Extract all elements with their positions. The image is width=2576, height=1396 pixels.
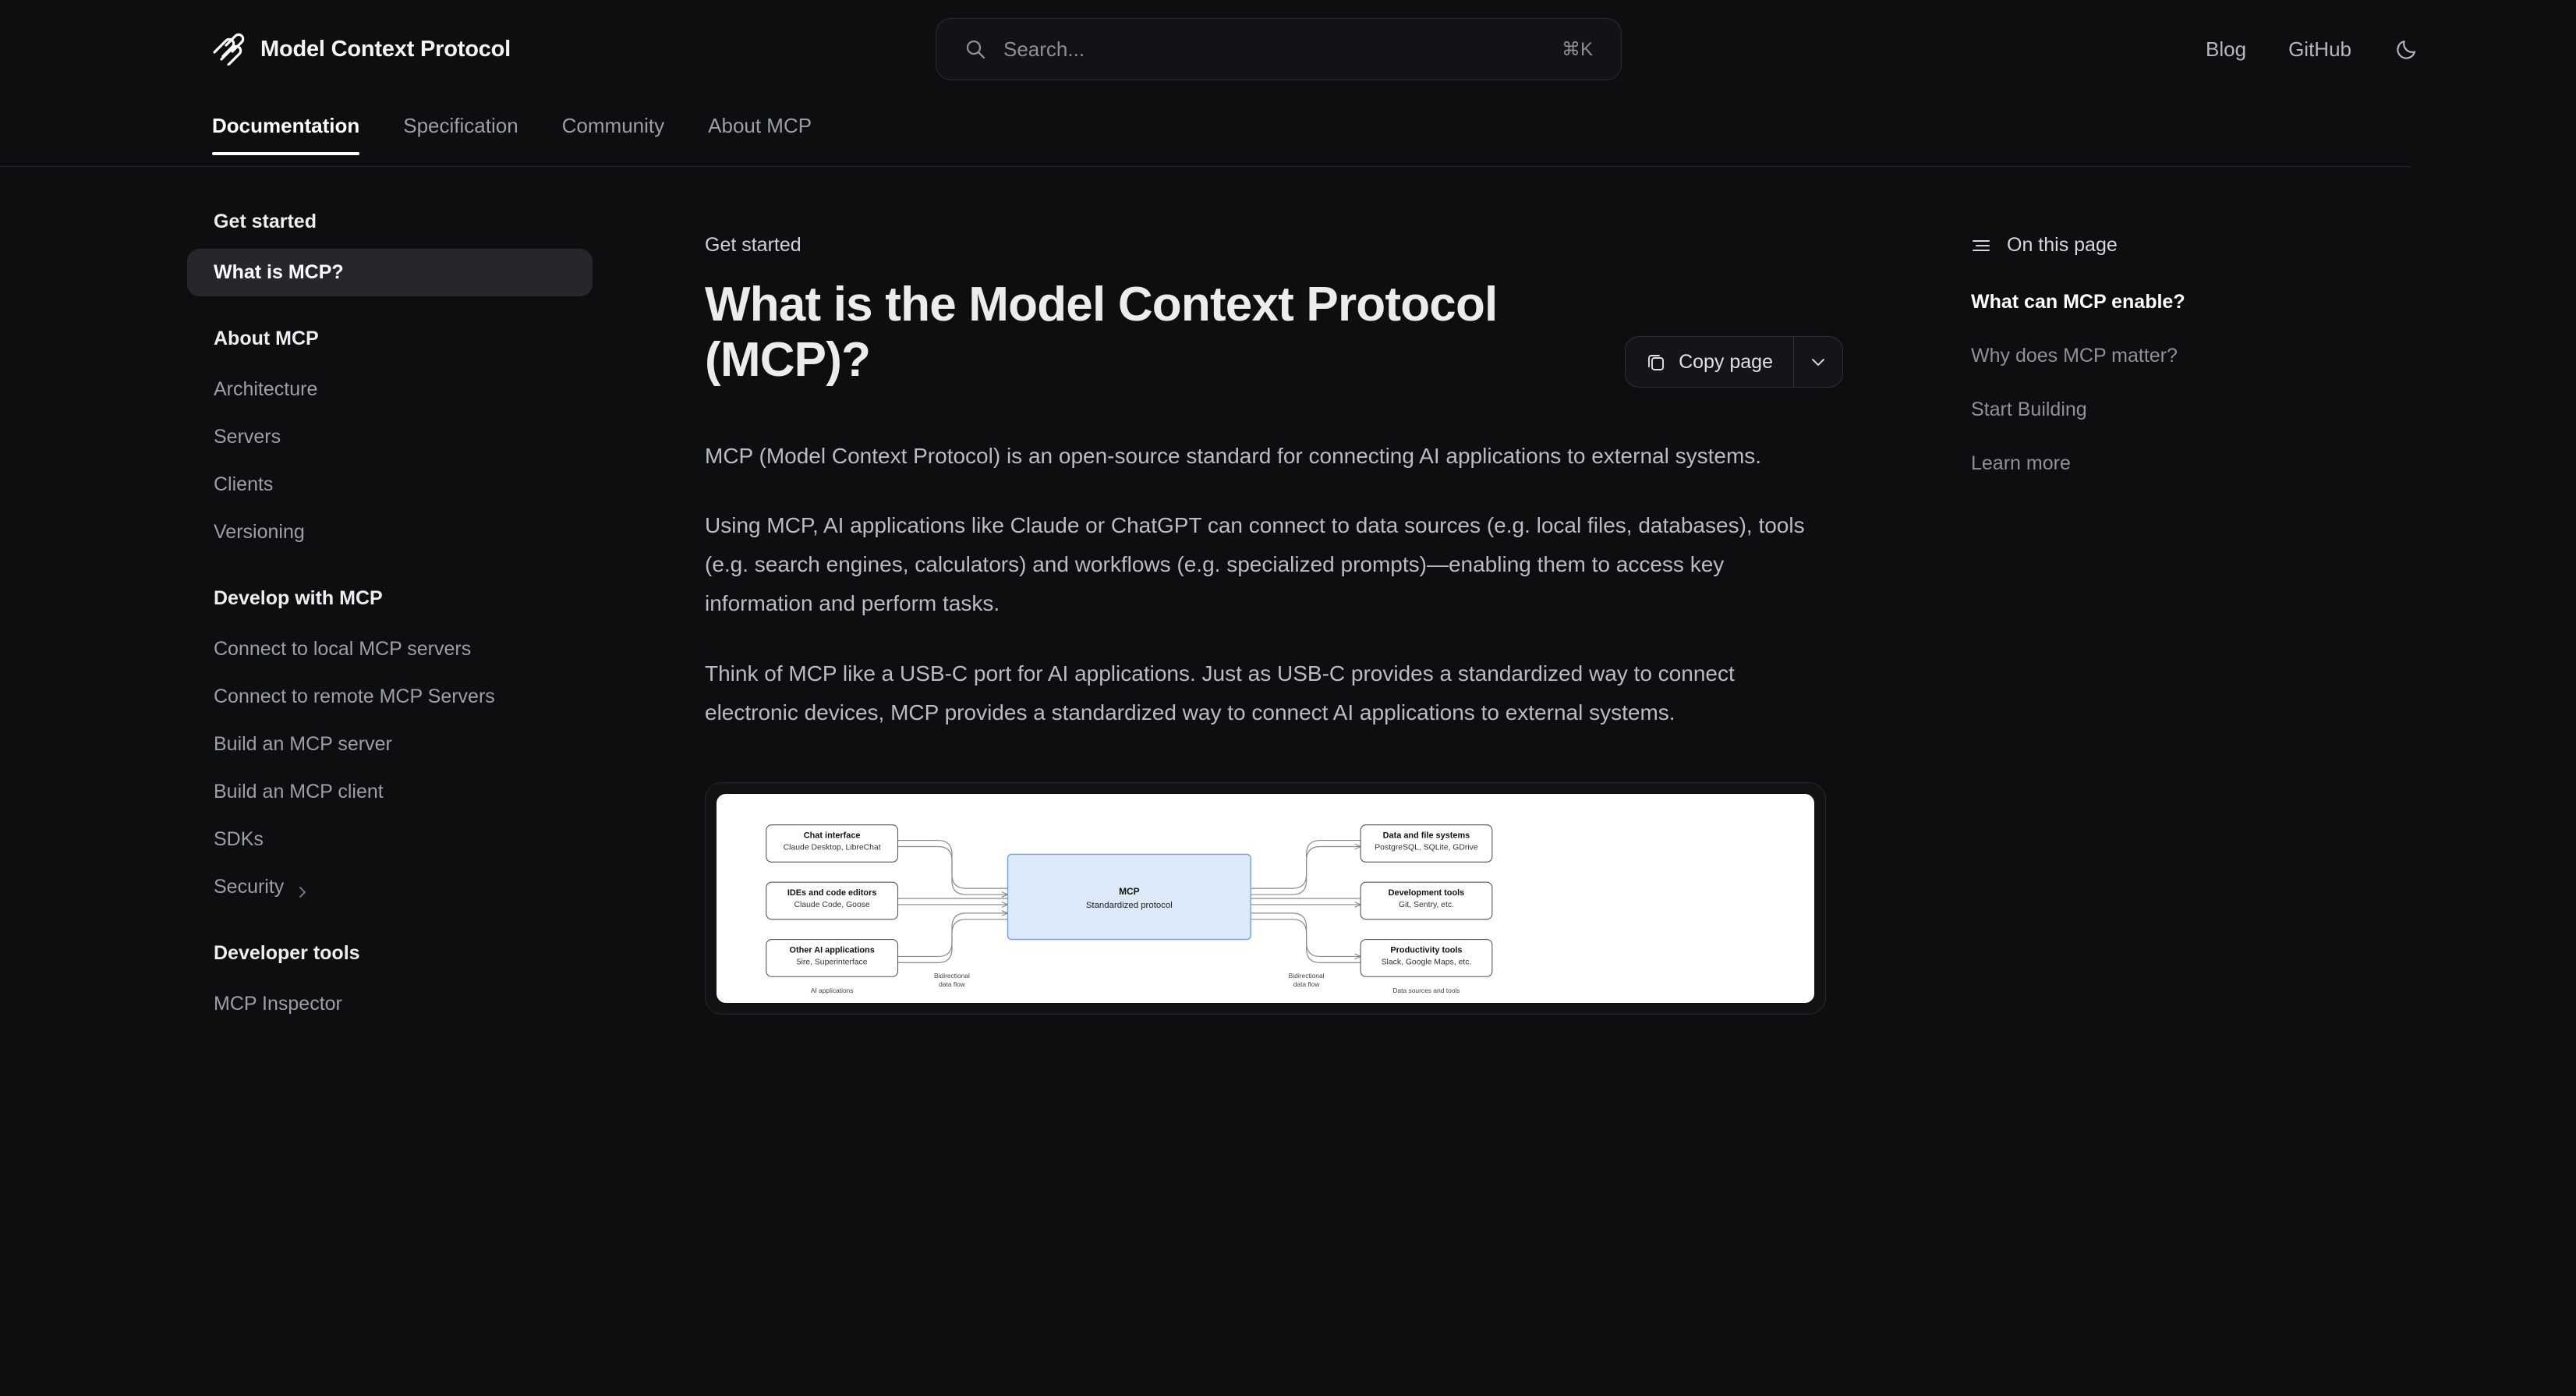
sidebar-item-connect-remote-servers[interactable]: Connect to remote MCP Servers (187, 673, 593, 721)
copy-page-label: Copy page (1679, 351, 1773, 374)
center-box-subtitle: Standardized protocol (1086, 900, 1173, 909)
sidebar-spacer (187, 911, 593, 942)
box-title: Development tools (1389, 888, 1465, 898)
nav-link-github[interactable]: GitHub (2288, 37, 2351, 62)
toc-heading: On this page (1971, 234, 2361, 257)
body-paragraph-2: Using MCP, AI applications like Claude o… (705, 506, 1828, 622)
sidebar-item-mcp-inspector[interactable]: MCP Inspector (187, 980, 593, 1028)
sidebar-group-about-mcp: About MCP Architecture Servers Clients V… (187, 328, 593, 556)
sidebar-item-label: What is MCP? (214, 261, 344, 284)
copy-page-dropdown-button[interactable] (1794, 337, 1842, 387)
sidebar-group-title: Developer tools (187, 942, 593, 965)
diagram-caption-left: AI applications (811, 987, 854, 994)
sidebar-item-label: Clients (214, 473, 273, 496)
sidebar-item-label: Build an MCP server (214, 733, 392, 756)
connector-mcp-to-chat (898, 840, 1008, 888)
connector-mcp-to-data (1251, 846, 1361, 895)
copy-page-button-group[interactable]: Copy page (1625, 336, 1843, 388)
sidebar-item-architecture[interactable]: Architecture (187, 366, 593, 413)
sidebar-item-servers[interactable]: Servers (187, 413, 593, 461)
toc-heading-label: On this page (2007, 234, 2118, 257)
body-paragraph-1: MCP (Model Context Protocol) is an open-… (705, 437, 1828, 476)
sidebar-item-label: Connect to remote MCP Servers (214, 686, 495, 708)
brand-logo[interactable]: Model Context Protocol (212, 33, 511, 66)
sidebar-item-versioning[interactable]: Versioning (187, 508, 593, 556)
box-title: Chat interface (804, 831, 861, 840)
diagram-box-productivity-tools: Productivity tools Slack, Google Maps, e… (1361, 939, 1492, 976)
box-title: Other AI applications (790, 945, 875, 955)
sidebar-item-label: Connect to local MCP servers (214, 638, 471, 661)
toc-item-what-can-mcp-enable[interactable]: What can MCP enable? (1971, 291, 2361, 314)
box-subtitle: Claude Desktop, LibreChat (784, 843, 881, 852)
copy-page-button[interactable]: Copy page (1626, 337, 1793, 387)
flow-label-left: Bidirectional data flow (934, 972, 970, 988)
sidebar-group-develop-with-mcp: Develop with MCP Connect to local MCP se… (187, 587, 593, 911)
diagram-box-data-file-systems: Data and file systems PostgreSQL, SQLite… (1361, 824, 1492, 862)
main-content: Get started What is the Model Context Pr… (705, 234, 1843, 1015)
sidebar-item-label: Build an MCP client (214, 781, 384, 803)
connector-data-to-mcp (1251, 840, 1361, 888)
search-shortcut-badge: ⌘K (1562, 38, 1593, 61)
search-bar[interactable]: Search... ⌘K (936, 18, 1622, 80)
diagram-box-ides-code-editors: IDEs and code editors Claude Code, Goose (766, 882, 898, 919)
sidebar-group-get-started: Get started What is MCP? (187, 211, 593, 296)
tab-community[interactable]: Community (562, 114, 664, 155)
sidebar-item-label: MCP Inspector (214, 993, 342, 1015)
mcp-logo-icon (212, 33, 245, 66)
sidebar-spacer (187, 556, 593, 587)
sidebar-item-security[interactable]: Security (187, 863, 593, 911)
sidebar-item-label: Security (214, 876, 284, 898)
sidebar-group-title: About MCP (187, 328, 593, 350)
toc-item-why-does-mcp-matter[interactable]: Why does MCP matter? (1971, 345, 2361, 367)
sidebar-item-what-is-mcp[interactable]: What is MCP? (187, 249, 593, 296)
sidebar-group-title: Develop with MCP (187, 587, 593, 610)
sidebar-item-build-mcp-server[interactable]: Build an MCP server (187, 721, 593, 768)
sidebar-item-label: Versioning (214, 521, 305, 544)
box-subtitle: Claude Code, Goose (794, 900, 870, 909)
search-input[interactable]: Search... (1003, 37, 1545, 62)
moon-icon[interactable] (2394, 36, 2420, 62)
sidebar-item-label: SDKs (214, 828, 264, 851)
flow-label-line1: Bidirectional (1289, 972, 1325, 980)
sidebar-group-title: Get started (187, 211, 593, 233)
flow-label-line1: Bidirectional (934, 972, 970, 980)
sidebar-spacer (187, 296, 593, 328)
page-title: What is the Model Context Protocol (MCP)… (705, 277, 1531, 388)
connector-chat-to-mcp (898, 846, 1008, 895)
body-paragraph-3: Think of MCP like a USB-C port for AI ap… (705, 654, 1828, 732)
box-subtitle: 5ire, Superinterface (797, 958, 868, 966)
chevron-right-icon (296, 881, 309, 894)
diagram-box-other-ai-applications: Other AI applications 5ire, Superinterfa… (766, 939, 898, 976)
header-divider (0, 166, 2411, 167)
search-icon (964, 38, 986, 60)
sidebar-item-label: Servers (214, 426, 281, 448)
copy-icon (1646, 352, 1666, 372)
box-subtitle: Git, Sentry, etc. (1399, 900, 1454, 909)
box-subtitle: Slack, Google Maps, etc. (1382, 958, 1472, 966)
table-of-contents: On this page What can MCP enable? Why do… (1971, 234, 2361, 506)
box-subtitle: PostgreSQL, SQLite, GDrive (1375, 843, 1478, 852)
title-row: What is the Model Context Protocol (MCP)… (705, 277, 1843, 388)
center-box-title: MCP (1119, 886, 1140, 897)
tabs-list: Documentation Specification Community Ab… (212, 98, 812, 167)
primary-tabs: Documentation Specification Community Ab… (0, 98, 2576, 167)
sidebar-item-connect-local-servers[interactable]: Connect to local MCP servers (187, 625, 593, 673)
flow-label-line2: data flow (939, 980, 966, 988)
tab-specification[interactable]: Specification (403, 114, 518, 155)
flow-label-right: Bidirectional data flow (1289, 972, 1325, 988)
architecture-diagram-frame: Chat interface Claude Desktop, LibreChat… (705, 782, 1826, 1015)
diagram-box-chat-interface: Chat interface Claude Desktop, LibreChat (766, 824, 898, 862)
box-title: Productivity tools (1390, 945, 1462, 955)
sidebar-item-sdks[interactable]: SDKs (187, 816, 593, 863)
sidebar-group-developer-tools: Developer tools MCP Inspector (187, 942, 593, 1028)
chevron-down-icon (1809, 353, 1828, 371)
sidebar-item-clients[interactable]: Clients (187, 461, 593, 508)
toc-item-learn-more[interactable]: Learn more (1971, 452, 2361, 475)
diagram-box-mcp-center: MCP Standardized protocol (1007, 854, 1251, 939)
architecture-diagram: Chat interface Claude Desktop, LibreChat… (717, 794, 1814, 1003)
sidebar-nav: Get started What is MCP? About MCP Archi… (187, 211, 593, 1028)
sidebar-item-label: Architecture (214, 378, 317, 401)
diagram-caption-right: Data sources and tools (1392, 987, 1460, 994)
breadcrumb: Get started (705, 234, 1843, 257)
architecture-diagram-svg: Chat interface Claude Desktop, LibreChat… (717, 794, 1814, 1003)
box-title: Data and file systems (1383, 831, 1470, 840)
tab-documentation[interactable]: Documentation (212, 114, 359, 155)
site-header: Model Context Protocol Search... ⌘K Blog… (0, 0, 2576, 98)
flow-label-line2: data flow (1293, 980, 1321, 988)
box-title: IDEs and code editors (787, 888, 877, 898)
tab-about-mcp[interactable]: About MCP (708, 114, 812, 155)
header-right-nav: Blog GitHub (2206, 0, 2420, 98)
search-box[interactable]: Search... ⌘K (936, 18, 1622, 80)
diagram-box-development-tools: Development tools Git, Sentry, etc. (1361, 882, 1492, 919)
toc-item-start-building[interactable]: Start Building (1971, 399, 2361, 421)
brand-name: Model Context Protocol (260, 37, 511, 62)
list-icon (1971, 236, 1991, 256)
nav-link-blog[interactable]: Blog (2206, 37, 2246, 62)
sidebar-item-build-mcp-client[interactable]: Build an MCP client (187, 768, 593, 816)
